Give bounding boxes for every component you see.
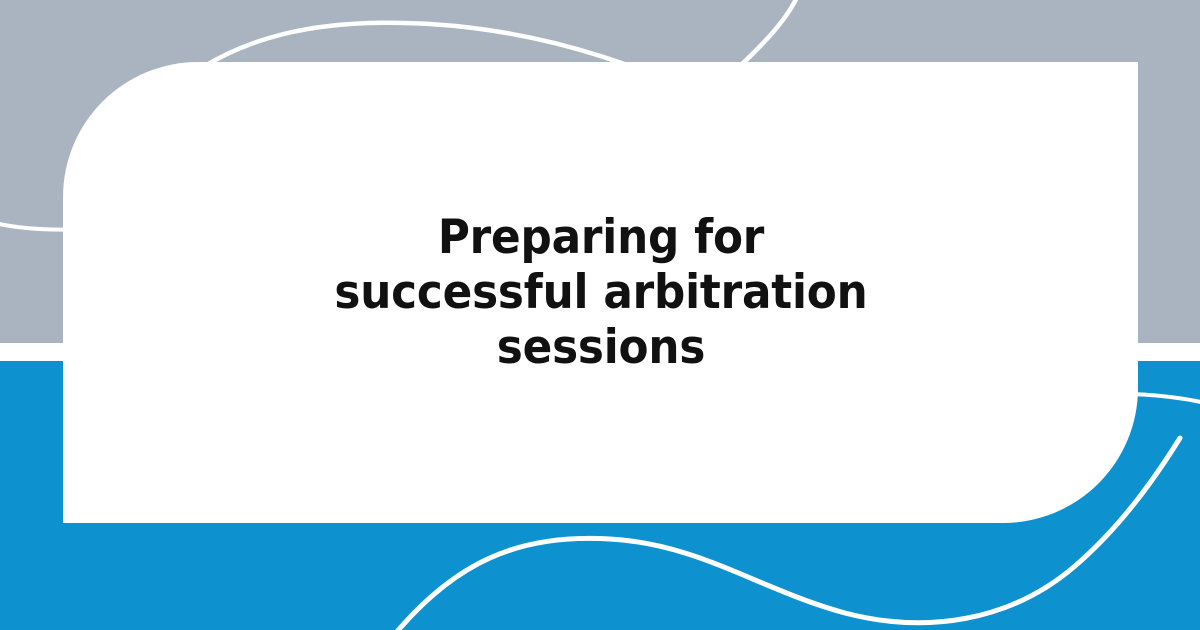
banner-canvas: Preparing for successful arbitration ses… [0,0,1200,630]
title-container: Preparing for successful arbitration ses… [63,62,1138,523]
page-title: Preparing for successful arbitration ses… [312,210,889,375]
